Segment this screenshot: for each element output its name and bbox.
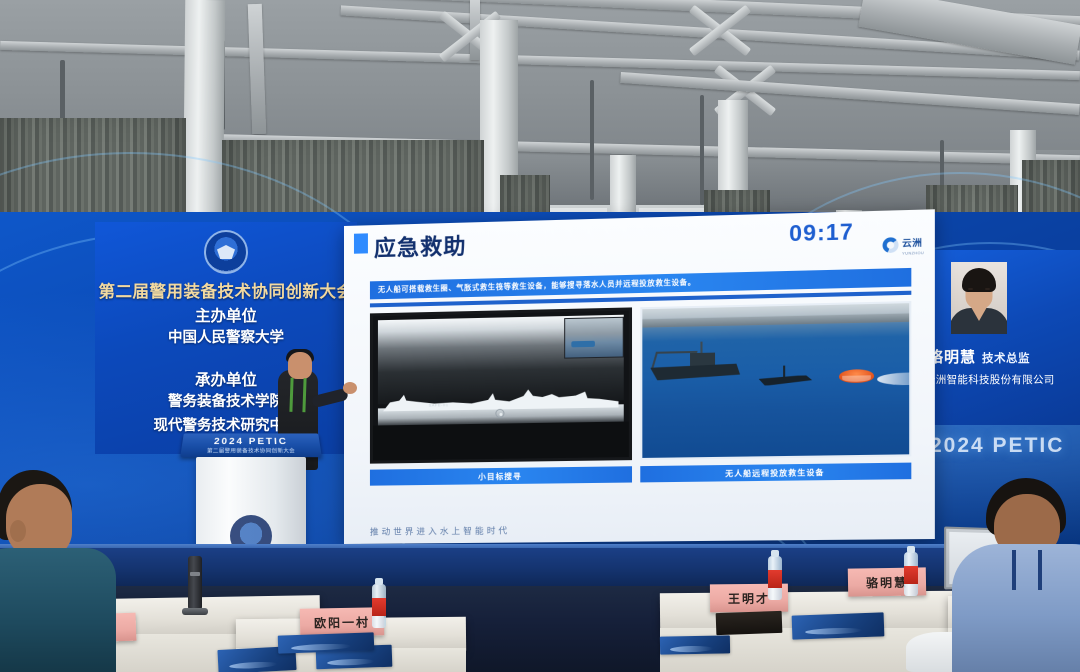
slide-caption-row: 小目标搜寻 无人船远程投放救生设备 xyxy=(370,463,911,486)
media-cell-sea-photo xyxy=(640,301,911,460)
logo-text-en: YUNZHOU xyxy=(902,251,924,256)
sea-rescue-image xyxy=(640,301,911,460)
media-cell-thermal: SAFE-01 xyxy=(370,307,632,463)
thermal-camera-image: SAFE-01 xyxy=(370,307,632,463)
life-raft xyxy=(839,369,874,383)
bottle-label xyxy=(372,598,386,616)
speaker-role: 技术总监 xyxy=(982,353,1030,365)
pillar xyxy=(183,0,226,240)
water-bottle xyxy=(768,556,782,600)
presenter-lanyard xyxy=(289,378,306,413)
right-wall-petic-text: 2024 PETIC xyxy=(930,434,1064,458)
thermal-picture-in-picture xyxy=(564,317,624,359)
organizer-label: 主办单位 xyxy=(95,304,357,326)
conference-title: 第二届警用装备技术协同创新大会 xyxy=(95,278,357,302)
conduit xyxy=(700,95,704,205)
attendee-torso xyxy=(0,548,116,672)
logo-text-cn: 云洲 xyxy=(902,238,922,249)
projection-screen: 应急救助 09:17 云洲 YUNZHOU 无人船可搭载救生圈、气胀式救生筏等救… xyxy=(344,209,935,544)
attendee-front-right xyxy=(976,478,1080,672)
usv-wake xyxy=(877,372,912,385)
pip-boat xyxy=(571,341,595,348)
shoreline xyxy=(642,314,909,327)
screenshot-root: 第二届警用装备技术协同创新大会 主办单位 中国人民警察大学 承办单位 警务装备技… xyxy=(0,0,1080,672)
bottle-label xyxy=(904,566,918,584)
fishing-boat xyxy=(650,346,740,381)
portrait-eye-left xyxy=(968,288,973,290)
caption-right-text: 无人船远程投放救生设备 xyxy=(725,466,824,479)
lectern-sign-main: 2024 PETIC xyxy=(182,437,321,447)
presenter-head xyxy=(288,352,312,379)
speaker-name: 骆明慧 xyxy=(928,349,976,366)
portrait-eye-right xyxy=(985,288,990,290)
caption-left-text: 小目标搜寻 xyxy=(478,470,522,482)
yunzhou-logo: 云洲 YUNZHOU xyxy=(883,232,924,256)
notebook[interactable] xyxy=(716,611,783,635)
unmanned-surface-vessel xyxy=(759,365,812,385)
usv-mast xyxy=(783,366,785,377)
slide: 应急救助 09:17 云洲 YUNZHOU 无人船可搭载救生圈、气胀式救生筏等救… xyxy=(344,209,935,544)
thermal-lower-band xyxy=(373,422,629,461)
thermal-osd-text: SAFE-01 xyxy=(429,402,449,407)
organizer-name: 中国人民警察大学 xyxy=(95,326,357,347)
water-bottle xyxy=(372,584,386,628)
conference-booklet[interactable] xyxy=(792,612,885,639)
lectern-sign: 2024 PETIC 第二届警用装备技术协同创新大会 xyxy=(180,433,322,457)
slide-description-text: 无人船可搭载救生圈、气胀式救生筏等救生设备，能够搜寻落水人员并远程投放救生设备。 xyxy=(378,277,696,295)
attendee-lanyard xyxy=(1012,550,1042,590)
conference-booklet[interactable] xyxy=(660,635,730,654)
slide-clock: 09:17 xyxy=(789,219,854,248)
nameplate-text: 王明才 xyxy=(728,589,770,606)
nameplate-text: 骆明慧 xyxy=(866,573,908,591)
usv-hull xyxy=(759,375,812,386)
boat-cabin xyxy=(690,352,715,366)
conference-booklet[interactable] xyxy=(278,632,375,653)
roof-truss xyxy=(690,0,748,58)
university-seal-icon xyxy=(204,230,248,274)
conduit xyxy=(590,80,594,200)
speaker-portrait xyxy=(951,262,1007,334)
yunzhou-logo-icon xyxy=(883,237,899,253)
water-bottle xyxy=(904,552,918,596)
nameplate-text: 欧阳一村 xyxy=(314,613,370,631)
attendee-ear xyxy=(10,520,26,542)
caption-right: 无人船远程投放救生设备 xyxy=(640,463,911,483)
slide-footer-slogan: 推动世界进入水上智能时代 xyxy=(370,524,510,537)
slide-title: 应急救助 xyxy=(374,229,467,264)
desk-microphone[interactable] xyxy=(188,556,202,610)
desk-microphone-base xyxy=(182,608,208,615)
attendee-front-left xyxy=(0,470,120,672)
caption-left: 小目标搜寻 xyxy=(370,466,632,485)
lectern-sign-sub: 第二届警用装备技术协同创新大会 xyxy=(181,447,322,454)
slide-media-row: SAFE-01 xyxy=(370,301,911,464)
bottle-label xyxy=(768,570,782,588)
presenter-hand xyxy=(343,382,357,394)
slide-title-accent xyxy=(354,233,368,253)
